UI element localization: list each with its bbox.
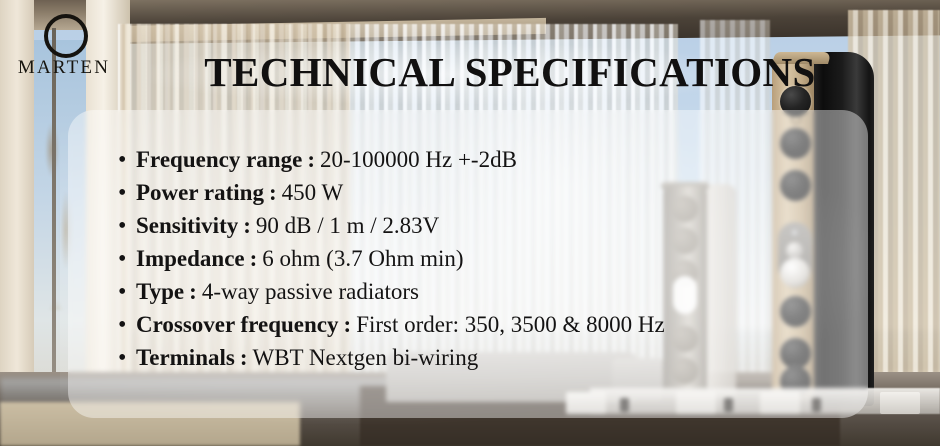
spec-label: Type	[136, 275, 184, 308]
bullet-icon: •	[118, 276, 136, 309]
bullet-icon: •	[118, 210, 136, 243]
spec-separator: :	[339, 308, 354, 341]
spec-label: Crossover frequency	[136, 308, 339, 341]
spec-item: • Sensitivity : 90 dB / 1 m / 2.83V	[118, 209, 878, 242]
spec-value: 450 W	[279, 176, 344, 209]
specifications-list: • Frequency range : 20-100000 Hz +-2dB •…	[118, 143, 878, 374]
speaker-foot	[880, 392, 920, 414]
bullet-icon: •	[118, 177, 136, 210]
bullet-icon: •	[118, 243, 136, 276]
technical-specifications-slide: MARTEN TECHNICAL SPECIFICATIONS • Freque…	[0, 0, 940, 446]
spec-separator: :	[184, 275, 199, 308]
spec-item: • Terminals : WBT Nextgen bi-wiring	[118, 341, 878, 374]
spec-item: • Impedance : 6 ohm (3.7 Ohm min)	[118, 242, 878, 275]
spec-separator: :	[235, 341, 250, 374]
spec-item: • Frequency range : 20-100000 Hz +-2dB	[118, 143, 878, 176]
spec-label: Frequency range	[136, 143, 302, 176]
spec-value: 20-100000 Hz +-2dB	[317, 143, 517, 176]
spec-label: Terminals	[136, 341, 235, 374]
spec-separator: :	[245, 242, 260, 275]
spec-label: Sensitivity	[136, 209, 238, 242]
spec-value: First order: 350, 3500 & 8000 Hz	[353, 308, 665, 341]
spec-label: Power rating	[136, 176, 264, 209]
spec-value: WBT Nextgen bi-wiring	[250, 341, 479, 374]
spec-separator: :	[302, 143, 317, 176]
spec-separator: :	[238, 209, 253, 242]
spec-value: 6 ohm (3.7 Ohm min)	[259, 242, 463, 275]
spec-item: • Crossover frequency : First order: 350…	[118, 308, 878, 341]
spec-label: Impedance	[136, 242, 245, 275]
bullet-icon: •	[118, 309, 136, 342]
spec-item: • Type : 4-way passive radiators	[118, 275, 878, 308]
bullet-icon: •	[118, 144, 136, 177]
spec-item: • Power rating : 450 W	[118, 176, 878, 209]
spec-separator: :	[264, 176, 279, 209]
spec-value: 4-way passive radiators	[199, 275, 419, 308]
spec-value: 90 dB / 1 m / 2.83V	[253, 209, 439, 242]
page-title: TECHNICAL SPECIFICATIONS	[0, 50, 940, 94]
bullet-icon: •	[118, 342, 136, 375]
